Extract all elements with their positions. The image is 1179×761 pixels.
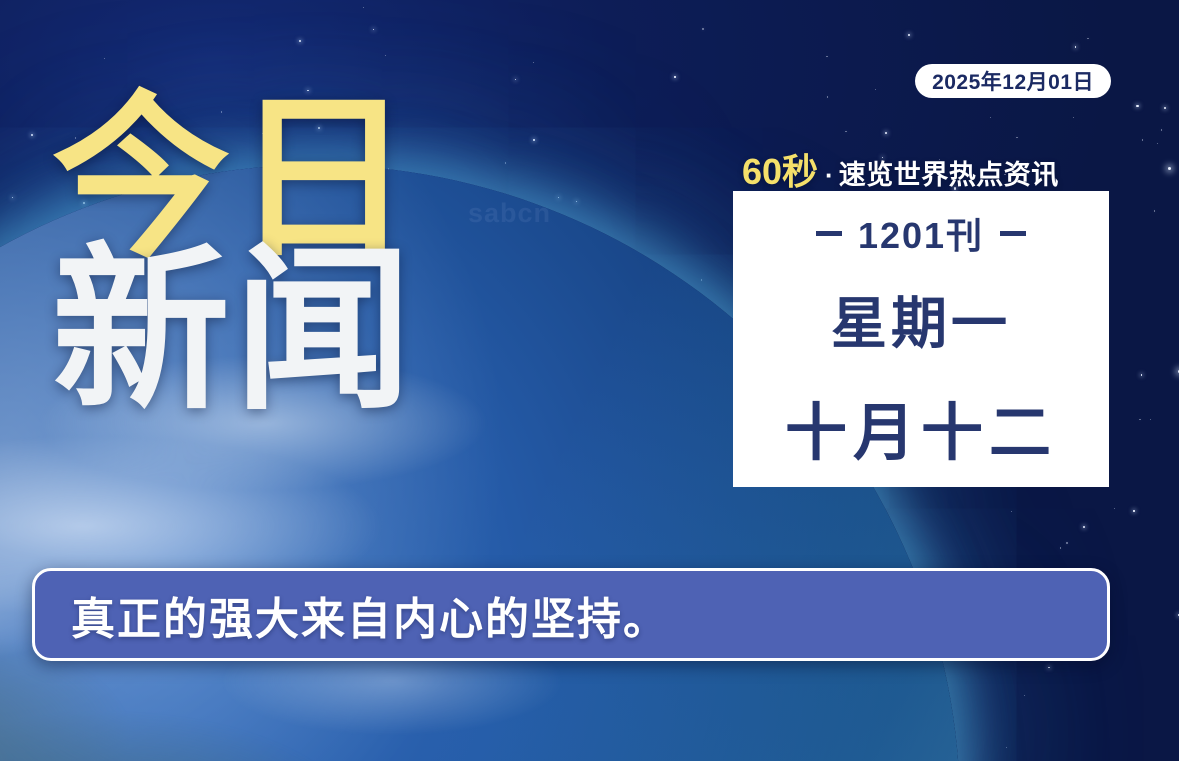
star-icon (576, 201, 577, 202)
date-badge: 2025年12月01日 (915, 64, 1111, 98)
star-icon (702, 28, 703, 29)
star-icon (1016, 137, 1017, 138)
watermark: sabcn (468, 198, 551, 229)
star-icon (533, 139, 534, 140)
star-icon (1024, 695, 1025, 696)
star-icon (674, 76, 675, 77)
star-icon (1075, 46, 1076, 47)
star-icon (701, 279, 702, 280)
tagline-text: 速览世界热点资讯 (839, 153, 1059, 192)
star-icon (827, 96, 828, 97)
star-icon (299, 40, 301, 42)
star-icon (885, 132, 887, 134)
star-icon (826, 56, 827, 57)
issue-number: 1201刊 (858, 207, 984, 259)
star-icon (908, 34, 910, 36)
dash-right-icon (1000, 231, 1026, 236)
star-icon (845, 131, 846, 132)
quote-banner: 真正的强大来自内心的坚持。 (32, 568, 1110, 661)
star-icon (1083, 526, 1085, 528)
star-icon (1139, 419, 1140, 420)
weekday-label: 星期一 (831, 279, 1011, 360)
star-icon (505, 162, 506, 163)
star-icon (104, 58, 105, 59)
star-icon (1161, 129, 1162, 130)
star-icon (1011, 511, 1012, 512)
star-icon (1150, 419, 1151, 420)
star-icon (385, 55, 386, 56)
star-icon (1142, 139, 1143, 140)
star-icon (363, 7, 364, 8)
news-poster: sabcn 今日 新闻 2025年12月01日 60秒 · 速览世界热点资讯 1… (0, 0, 1179, 761)
star-icon (1141, 374, 1142, 375)
page-title-line-2: 新闻 (52, 248, 416, 414)
star-icon (1157, 143, 1158, 144)
quote-text: 真正的强大来自内心的坚持。 (71, 583, 669, 647)
issue-number-row: 1201刊 (816, 207, 1026, 259)
dash-left-icon (816, 231, 842, 236)
star-icon (31, 134, 33, 136)
star-icon (1133, 510, 1134, 511)
star-icon (1154, 210, 1155, 211)
lunar-date-label: 十月十二 (785, 382, 1057, 472)
star-icon (875, 89, 876, 90)
star-icon (373, 29, 374, 30)
star-icon (515, 79, 516, 80)
star-icon (558, 197, 559, 198)
star-icon (1048, 667, 1049, 668)
star-icon (12, 197, 13, 198)
star-icon (1060, 547, 1061, 548)
star-icon (533, 62, 534, 63)
tagline-separator: · (825, 160, 834, 191)
star-icon (990, 117, 991, 118)
star-icon (1114, 508, 1115, 509)
star-icon (1073, 117, 1074, 118)
tagline: 60秒 · 速览世界热点资讯 (742, 143, 1059, 195)
tagline-duration: 60秒 (742, 143, 818, 195)
star-icon (1136, 105, 1138, 107)
star-icon (1006, 747, 1007, 748)
star-icon (1164, 107, 1166, 109)
page-title: 今日 新闻 (52, 96, 416, 413)
star-icon (1066, 542, 1067, 543)
star-icon (1168, 167, 1171, 170)
star-icon (1087, 38, 1088, 39)
issue-card: 1201刊 星期一 十月十二 (733, 191, 1109, 487)
